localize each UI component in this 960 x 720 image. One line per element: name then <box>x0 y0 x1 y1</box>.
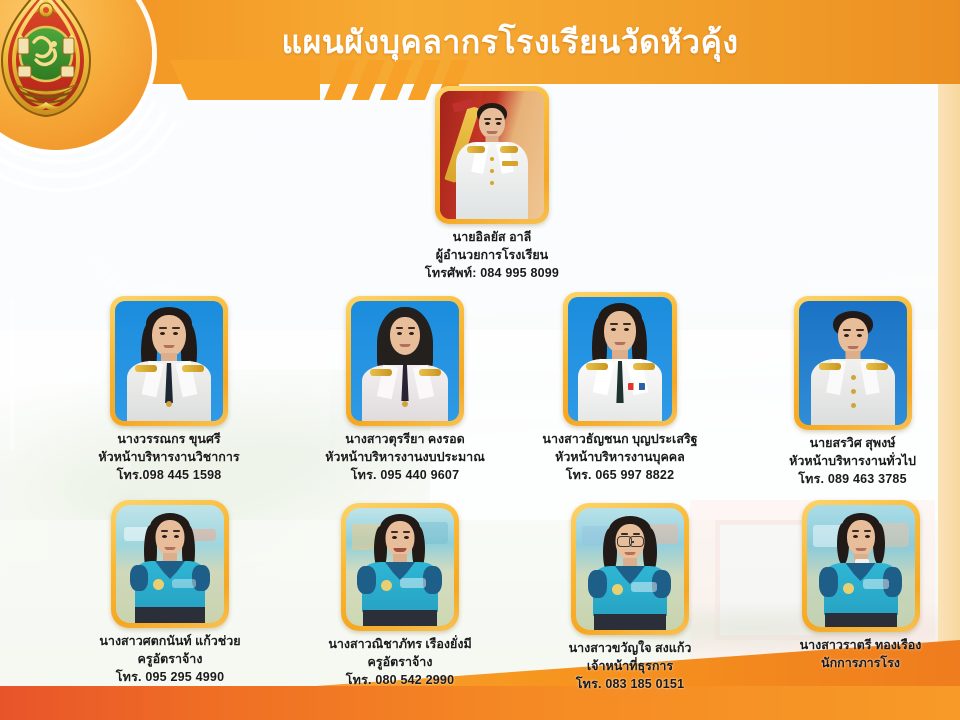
photo-frame <box>563 292 677 426</box>
photo-frame <box>346 296 464 426</box>
person-phone: โทร.098 445 1598 <box>64 467 274 485</box>
person-name: นางวรรณกร ขุนศรี <box>64 431 274 449</box>
person-name: นายสรวิศ สุพงษ์ <box>745 435 960 453</box>
person-card-staff-4[interactable]: นางสาวราตรี ทองเรือง นักการภารโรง <box>763 500 958 673</box>
portrait-photo-staff-3 <box>576 508 684 630</box>
photo-frame <box>571 503 689 635</box>
photo-frame <box>794 296 912 430</box>
person-caption: นายอิลยัส อาลี ผู้อำนวยการโรงเรียน โทรศั… <box>412 229 572 282</box>
person-caption: นางสาวศตกนันท์ แก้วช่วย ครูอัตราจ้าง โทร… <box>70 633 270 686</box>
person-caption: นายสรวิศ สุพงษ์ หัวหน้าบริหารงานทั่วไป โ… <box>745 435 960 488</box>
person-role: นักการภารโรง <box>763 655 958 673</box>
person-name: นางสาวราตรี ทองเรือง <box>763 637 958 655</box>
person-caption: นางสาวณิชาภัทร เรืองยั่งมี ครูอัตราจ้าง … <box>300 636 500 689</box>
person-phone: โทร. 065 997 8822 <box>505 467 735 485</box>
person-role: เจ้าหน้าที่ธุรการ <box>530 658 730 676</box>
person-caption: นางสาวขวัญใจ สงแก้ว เจ้าหน้าที่ธุรการ โท… <box>530 640 730 693</box>
photo-frame <box>110 296 228 426</box>
person-role: ครูอัตราจ้าง <box>70 651 270 669</box>
person-phone: โทร. 089 463 3785 <box>745 471 960 489</box>
person-role: ผู้อำนวยการโรงเรียน <box>412 247 572 265</box>
person-role: หัวหน้าบริหารงานบุคคล <box>505 449 735 467</box>
photo-frame <box>802 500 920 632</box>
person-card-head-3[interactable]: นางสาวธัญชนก บุญประเสริฐ หัวหน้าบริหารงา… <box>505 292 735 484</box>
portrait-photo-staff-2 <box>346 508 454 626</box>
portrait-photo-head-3 <box>568 297 672 421</box>
photo-frame <box>111 500 229 628</box>
person-name: นางสาวธัญชนก บุญประเสริฐ <box>505 431 735 449</box>
portrait-photo-head-4 <box>799 301 907 425</box>
person-role: หัวหน้าบริหารงานทั่วไป <box>745 453 960 471</box>
portrait-photo-director <box>440 91 544 219</box>
person-card-head-2[interactable]: นางสาวตุรรียา คงรอด หัวหน้าบริหารงานงบปร… <box>290 296 520 484</box>
person-role: ครูอัตราจ้าง <box>300 654 500 672</box>
person-name: นายอิลยัส อาลี <box>412 229 572 247</box>
org-chart-poster: แผนผังบุคลากรโรงเรียนวัดหัวคุ้ง <box>0 0 960 720</box>
stripe-bar <box>380 60 413 100</box>
person-name: นางสาวตุรรียา คงรอด <box>290 431 520 449</box>
portrait-photo-head-2 <box>351 301 459 421</box>
person-phone: โทร. 095 440 9607 <box>290 467 520 485</box>
person-caption: นางวรรณกร ขุนศรี หัวหน้าบริหารงานวิชาการ… <box>64 431 274 484</box>
portrait-photo-head-1 <box>115 301 223 421</box>
person-card-staff-3[interactable]: นางสาวขวัญใจ สงแก้ว เจ้าหน้าที่ธุรการ โท… <box>530 503 730 693</box>
poster-footer <box>0 686 960 720</box>
person-phone: โทรศัพท์: 084 995 8099 <box>412 265 572 283</box>
photo-frame <box>435 86 549 224</box>
person-caption: นางสาวธัญชนก บุญประเสริฐ หัวหน้าบริหารงา… <box>505 431 735 484</box>
person-phone: โทร. 080 542 2990 <box>300 672 500 690</box>
stripe-bar <box>352 60 385 100</box>
person-card-staff-1[interactable]: นางสาวศตกนันท์ แก้วช่วย ครูอัตราจ้าง โทร… <box>70 500 270 686</box>
person-phone: โทร. 095 295 4990 <box>70 669 270 687</box>
person-name: นางสาวขวัญใจ สงแก้ว <box>530 640 730 658</box>
photo-frame <box>341 503 459 631</box>
person-phone: โทร. 083 185 0151 <box>530 676 730 694</box>
person-card-staff-2[interactable]: นางสาวณิชาภัทร เรืองยั่งมี ครูอัตราจ้าง … <box>300 503 500 689</box>
person-caption: นางสาวตุรรียา คงรอด หัวหน้าบริหารงานงบปร… <box>290 431 520 484</box>
person-caption: นางสาวราตรี ทองเรือง นักการภารโรง <box>763 637 958 673</box>
person-role: หัวหน้าบริหารงานงบประมาณ <box>290 449 520 467</box>
person-card-head-4[interactable]: นายสรวิศ สุพงษ์ หัวหน้าบริหารงานทั่วไป โ… <box>745 296 960 488</box>
person-card-director[interactable]: นายอิลยัส อาลี ผู้อำนวยการโรงเรียน โทรศั… <box>412 86 572 282</box>
person-card-head-1[interactable]: นางวรรณกร ขุนศรี หัวหน้าบริหารงานวิชาการ… <box>64 296 274 484</box>
header-logo-badge <box>0 0 210 208</box>
person-name: นางสาวศตกนันท์ แก้วช่วย <box>70 633 270 651</box>
ministry-of-education-emblem <box>0 0 102 118</box>
person-role: หัวหน้าบริหารงานวิชาการ <box>64 449 274 467</box>
stripe-bar <box>324 60 357 100</box>
portrait-photo-staff-1 <box>116 505 224 623</box>
portrait-photo-staff-4 <box>807 505 915 627</box>
person-name: นางสาวณิชาภัทร เรืองยั่งมี <box>300 636 500 654</box>
